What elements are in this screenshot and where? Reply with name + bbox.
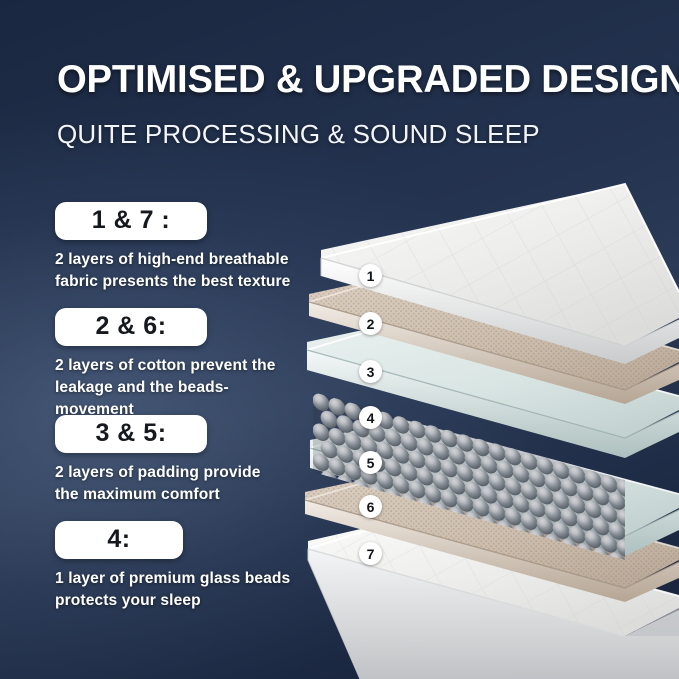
layer-number-4: 4 (359, 406, 382, 429)
layer-number-7: 7 (359, 542, 382, 565)
callout-label-3-5: 3 & 5: (55, 415, 207, 453)
layer-number-5: 5 (359, 451, 382, 474)
callout-text-3-5: 2 layers of padding provide the maximum … (55, 462, 260, 506)
callout-text-line-1: 2 layers of cotton prevent the (55, 355, 305, 377)
layer-number-2: 2 (359, 312, 382, 335)
callout-text-4: 1 layer of premium glass beads protects … (55, 568, 290, 612)
callout-label-2-6: 2 & 6: (55, 308, 207, 346)
callout-layers-3-and-5: 3 & 5: 2 layers of padding provide the m… (55, 415, 260, 506)
callout-layers-2-and-6: 2 & 6: 2 layers of cotton prevent the le… (55, 308, 305, 421)
callout-text-line-2: the maximum comfort (55, 484, 260, 506)
page-title: OPTIMISED & UPGRADED DESIGN (57, 58, 679, 102)
layer-number-6: 6 (359, 495, 382, 518)
callout-layers-1-and-7: 1 & 7 : 2 layers of high-end breathable … (55, 202, 290, 293)
callout-text-line-1: 1 layer of premium glass beads (55, 568, 290, 590)
callout-text-line-1: 2 layers of high-end breathable (55, 249, 290, 271)
page-subtitle: QUITE PROCESSING & SOUND SLEEP (57, 119, 540, 150)
callout-label-4: 4: (55, 521, 183, 559)
callout-layer-4: 4: 1 layer of premium glass beads protec… (55, 521, 290, 612)
callout-text-line-2: protects your sleep (55, 590, 290, 612)
callout-text-2-6: 2 layers of cotton prevent the leakage a… (55, 355, 305, 421)
callout-label-1-7: 1 & 7 : (55, 202, 207, 240)
layer-number-1: 1 (359, 264, 382, 287)
callout-text-line-1: 2 layers of padding provide (55, 462, 260, 484)
product-infographic: 1 2 3 4 5 6 7 OPTIMISED & UPGRADED DESIG… (0, 0, 679, 679)
layer-number-3: 3 (359, 360, 382, 383)
callout-text-1-7: 2 layers of high-end breathable fabric p… (55, 249, 290, 293)
callout-text-line-2: fabric presents the best texture (55, 271, 290, 293)
